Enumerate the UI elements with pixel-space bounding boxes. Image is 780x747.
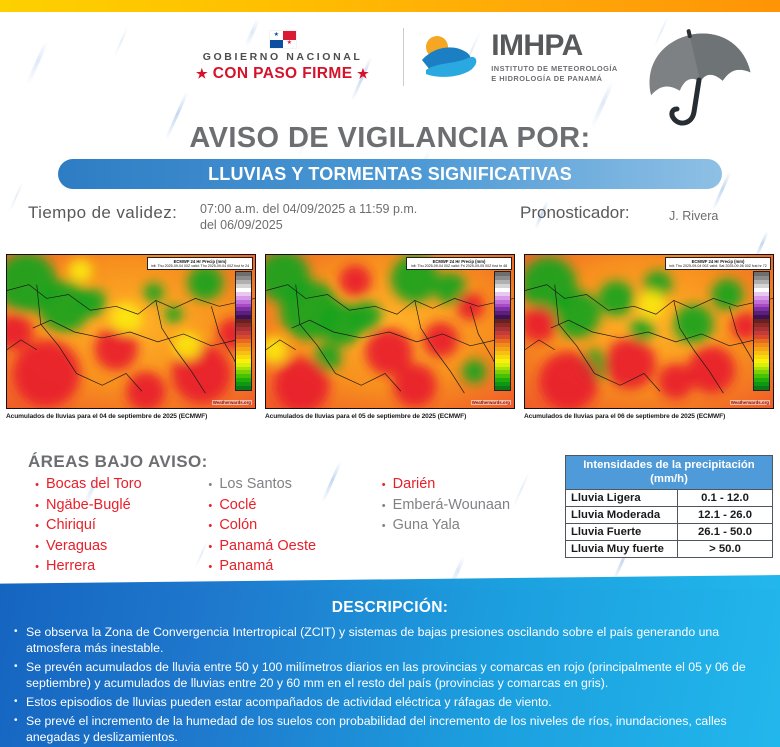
government-logo: ★★ GOBIERNO NACIONAL ★ CON PASO FIRME ★	[196, 31, 387, 83]
map-watermark-2: Weatherwards.org	[471, 400, 511, 405]
forecast-map-1: ECMWF 24 Hr Precip (mm)init: Thu 2025-09…	[6, 254, 256, 439]
map-header-line2: init: Thu 2025-09-04 00Z valid: Fri 2025…	[407, 264, 511, 268]
areas-column-1: •Bocas del Toro•Ngäbe-Buglé•Chiriquí•Ver…	[28, 474, 201, 577]
intensity-name: Lluvia Moderada	[566, 507, 678, 523]
map-header-label-1: ECMWF 24 Hr Precip (mm)init: Thu 2025-09…	[147, 257, 253, 270]
description-item-text: Se prevé el incremento de la humedad de …	[26, 714, 768, 746]
intensity-table-header: Intensidades de la precipitación (mm/h)	[566, 456, 772, 490]
area-item-label: Chiriquí	[46, 515, 96, 536]
star-left-icon: ★	[196, 66, 208, 81]
area-item: •Chiriquí	[28, 515, 201, 536]
map-caption-1: Acumulados de lluvias para el 04 de sept…	[6, 413, 256, 420]
top-accent-bar	[0, 0, 780, 12]
area-item: •Colón	[201, 515, 374, 536]
forecast-map-3: ECMWF 24 Hr Precip (mm)init: Thu 2025-09…	[524, 254, 774, 439]
star-right-icon: ★	[357, 66, 369, 81]
precip-map-image-3[interactable]: ECMWF 24 Hr Precip (mm)init: Thu 2025-09…	[524, 254, 774, 409]
description-item: •Se observa la Zona de Convergencia Inte…	[14, 625, 768, 657]
map-caption-2: Acumulados de lluvias para el 05 de sept…	[265, 413, 515, 420]
page-title: AVISO DE VIGILANCIA POR:	[0, 122, 780, 155]
area-item: •Panamá Oeste	[201, 536, 374, 557]
forecast-map-2: ECMWF 24 Hr Precip (mm)init: Thu 2025-09…	[265, 254, 515, 439]
panama-flag-icon: ★★	[270, 31, 296, 48]
area-item: •Herrera	[28, 556, 201, 577]
bullet-icon: •	[375, 478, 393, 494]
imhpa-brand: IMHPA	[491, 31, 618, 61]
intensity-table-row: Lluvia Fuerte26.1 - 50.0	[566, 524, 772, 541]
area-item-label: Los Santos	[219, 474, 292, 495]
bullet-icon: •	[28, 519, 46, 535]
weather-advisory-page: ★★ GOBIERNO NACIONAL ★ CON PASO FIRME ★	[0, 0, 780, 747]
description-item: •Se prevén acumulados de lluvia entre 50…	[14, 660, 768, 692]
validity-label: Tiempo de validez:	[28, 203, 177, 223]
area-item-label: Colón	[219, 515, 257, 536]
precip-map-image-1[interactable]: ECMWF 24 Hr Precip (mm)init: Thu 2025-09…	[6, 254, 256, 409]
description-item: •Estos episodios de lluvias pueden estar…	[14, 695, 768, 711]
description-title: DESCRIPCIÓN:	[0, 585, 780, 617]
description-item-text: Se observa la Zona de Convergencia Inter…	[26, 625, 768, 657]
area-item-label: Panamá Oeste	[219, 536, 316, 557]
areas-title: ÁREAS BAJO AVISO:	[28, 452, 208, 472]
bullet-icon: •	[201, 540, 219, 556]
subtitle-text: LLUVIAS Y TORMENTAS SIGNIFICATIVAS	[208, 164, 572, 185]
area-item-label: Ngäbe-Buglé	[46, 495, 131, 516]
intensity-table-row: Lluvia Muy fuerte> 50.0	[566, 541, 772, 557]
area-item: •Ngäbe-Buglé	[28, 495, 201, 516]
intensity-name: Lluvia Ligera	[566, 490, 678, 506]
description-item: •Se prevé el incremento de la humedad de…	[14, 714, 768, 746]
bullet-icon: •	[375, 499, 393, 515]
imhpa-subtitle-2: E HIDROLOGÍA DE PANAMÁ	[491, 74, 618, 84]
map-header-label-2: ECMWF 24 Hr Precip (mm)init: Thu 2025-09…	[406, 257, 512, 270]
intensity-range: > 50.0	[678, 541, 772, 557]
description-section: DESCRIPCIÓN: •Se observa la Zona de Conv…	[0, 585, 780, 747]
government-line1: GOBIERNO NACIONAL	[203, 51, 363, 63]
bullet-icon: •	[14, 695, 26, 711]
map-header-line2: init: Thu 2025-09-04 00Z valid: Thu 2025…	[148, 264, 252, 268]
intensity-table-row: Lluvia Ligera0.1 - 12.0	[566, 490, 772, 507]
area-item-label: Veraguas	[46, 536, 107, 557]
area-item: •Guna Yala	[375, 515, 548, 536]
area-item: •Veraguas	[28, 536, 201, 557]
map-caption-3: Acumulados de lluvias para el 06 de sept…	[524, 413, 774, 420]
imhpa-wave-sun-logo	[420, 32, 482, 82]
precipitation-intensity-table: Intensidades de la precipitación (mm/h) …	[565, 455, 773, 558]
area-item-label: Guna Yala	[393, 515, 460, 536]
bullet-icon: •	[201, 499, 219, 515]
bullet-icon: •	[201, 519, 219, 535]
precip-color-scale-legend-3	[753, 271, 770, 391]
intensity-range: 0.1 - 12.0	[678, 490, 772, 506]
map-watermark-1: Weatherwards.org	[212, 400, 252, 405]
bullet-icon: •	[28, 478, 46, 494]
description-item-text: Se prevén acumulados de lluvia entre 50 …	[26, 660, 768, 692]
area-item: •Coclé	[201, 495, 374, 516]
bullet-icon: •	[28, 499, 46, 515]
bullet-icon: •	[201, 560, 219, 576]
intensity-table-row: Lluvia Moderada12.1 - 26.0	[566, 507, 772, 524]
subtitle-banner: LLUVIAS Y TORMENTAS SIGNIFICATIVAS	[58, 159, 722, 189]
forecaster-value: J. Rivera	[669, 209, 718, 223]
precip-color-scale-legend-2	[494, 271, 511, 391]
intensity-title-line1: Intensidades de la precipitación	[570, 459, 768, 473]
map-watermark-3: Weatherwards.org	[730, 400, 770, 405]
bullet-icon: •	[201, 478, 219, 494]
imhpa-logo: IMHPA INSTITUTO DE METEOROLOGÍA E HIDROL…	[420, 31, 618, 84]
intensity-range: 26.1 - 50.0	[678, 524, 772, 540]
area-item: •Emberá-Wounaan	[375, 495, 548, 516]
intensity-name: Lluvia Fuerte	[566, 524, 678, 540]
area-item-label: Panamá	[219, 556, 273, 577]
bullet-icon: •	[14, 660, 26, 692]
imhpa-text-block: IMHPA INSTITUTO DE METEOROLOGÍA E HIDROL…	[491, 31, 618, 84]
bullet-icon: •	[375, 519, 393, 535]
areas-column-3: •Darién•Emberá-Wounaan•Guna Yala	[375, 474, 548, 577]
government-slogan: CON PASO FIRME	[213, 65, 353, 82]
description-list: •Se observa la Zona de Convergencia Inte…	[0, 625, 780, 746]
forecast-map-row: ECMWF 24 Hr Precip (mm)init: Thu 2025-09…	[0, 254, 780, 439]
logo-divider	[403, 28, 404, 86]
area-item: •Los Santos	[201, 474, 374, 495]
area-item: •Darién	[375, 474, 548, 495]
area-item: •Panamá	[201, 556, 374, 577]
area-item-label: Darién	[393, 474, 436, 495]
areas-columns: •Bocas del Toro•Ngäbe-Buglé•Chiriquí•Ver…	[28, 474, 548, 577]
bullet-icon: •	[14, 714, 26, 746]
bullet-icon: •	[28, 560, 46, 576]
bullet-icon: •	[14, 625, 26, 657]
description-item-text: Estos episodios de lluvias pueden estar …	[26, 695, 768, 711]
bullet-icon: •	[28, 540, 46, 556]
area-item-label: Emberá-Wounaan	[393, 495, 510, 516]
forecaster-label: Pronosticador:	[520, 203, 630, 223]
intensity-name: Lluvia Muy fuerte	[566, 541, 678, 557]
area-item-label: Bocas del Toro	[46, 474, 142, 495]
intensity-title-line2: (mm/h)	[570, 473, 768, 487]
area-item-label: Coclé	[219, 495, 256, 516]
meta-row: Tiempo de validez: 07:00 a.m. del 04/09/…	[0, 200, 780, 242]
map-header-line2: init: Thu 2025-09-04 00Z valid: Sat 2025…	[666, 264, 770, 268]
government-line2: ★ CON PASO FIRME ★	[196, 65, 369, 83]
map-header-label-3: ECMWF 24 Hr Precip (mm)init: Thu 2025-09…	[665, 257, 771, 270]
validity-value: 07:00 a.m. del 04/09/2025 a 11:59 p.m. d…	[200, 202, 430, 233]
area-item-label: Herrera	[46, 556, 95, 577]
logo-group: ★★ GOBIERNO NACIONAL ★ CON PASO FIRME ★	[196, 28, 618, 86]
precip-map-image-2[interactable]: ECMWF 24 Hr Precip (mm)init: Thu 2025-09…	[265, 254, 515, 409]
precip-color-scale-legend-1	[235, 271, 252, 391]
imhpa-subtitle-1: INSTITUTO DE METEOROLOGÍA	[491, 64, 618, 74]
areas-column-2: •Los Santos•Coclé•Colón•Panamá Oeste•Pan…	[201, 474, 374, 577]
intensity-range: 12.1 - 26.0	[678, 507, 772, 523]
area-item: •Bocas del Toro	[28, 474, 201, 495]
